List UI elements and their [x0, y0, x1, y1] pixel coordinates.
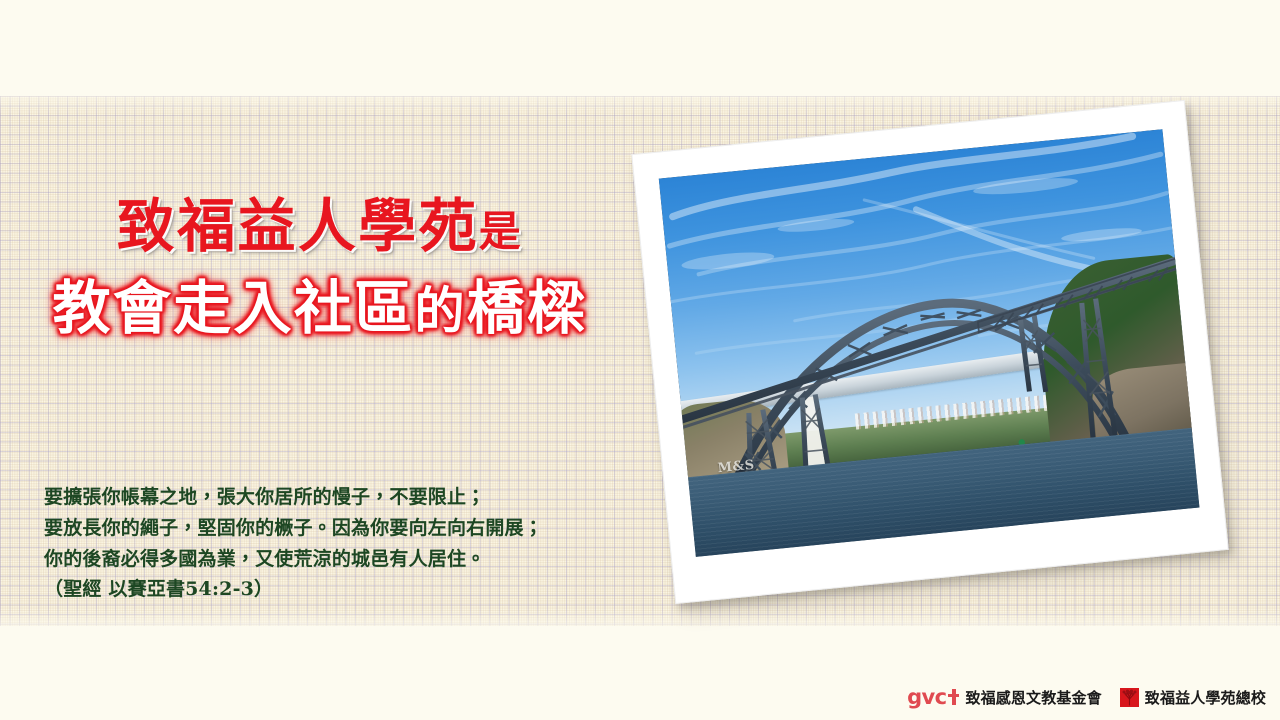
bridge-photo: M&S [659, 129, 1200, 557]
scripture-line-1: 要擴張你帳幕之地，張大你居所的慢子，不要限止； [44, 482, 543, 513]
gvc-logo: gvc [907, 687, 959, 708]
footer-org-academy[interactable]: 致福益人學苑總校 [1120, 687, 1266, 708]
scripture-block: 要擴張你帳幕之地，張大你居所的慢子，不要限止； 要放長你的繩子，堅固你的橛子。因… [44, 482, 543, 605]
headline-block: 致福益人學苑是 教會走入社區的橋樑 [0, 196, 640, 339]
gvc-wordmark: gvc [907, 687, 946, 708]
scripture-reference: （聖經 以賽亞書54:2-3） [44, 574, 543, 605]
footer-org-gvc-label: 致福感恩文教基金會 [965, 687, 1101, 708]
headline-line-1: 致福益人學苑是 [0, 196, 640, 256]
headline-line-2-part2: 的 [414, 282, 466, 340]
photo-frame: M&S [631, 100, 1228, 604]
photo-container: M&S [631, 100, 1228, 604]
scripture-line-3: 你的後裔必得多國為業，又使荒涼的城邑有人居住。 [44, 544, 543, 575]
headline-line-2-part1: 教會走入社區 [53, 274, 415, 342]
headline-line-1-tail: 是 [479, 207, 523, 256]
photo-scene: M&S [659, 129, 1200, 557]
footer-org-gvc[interactable]: gvc 致福感恩文教基金會 [907, 687, 1102, 708]
footer-org-academy-label: 致福益人學苑總校 [1145, 687, 1266, 708]
tree-glyph [1120, 688, 1139, 707]
tree-square-icon [1120, 688, 1139, 707]
headline-line-1-main: 致福益人學苑 [117, 192, 479, 260]
headline-line-2: 教會走入社區的橋樑 [0, 278, 640, 338]
headline-line-2-part3: 橋樑 [467, 274, 588, 342]
cross-icon [948, 689, 959, 705]
footer-logos: gvc 致福感恩文教基金會 [907, 682, 1266, 712]
slide-canvas: 致福益人學苑是 教會走入社區的橋樑 要擴張你帳幕之地，張大你居所的慢子，不要限止… [0, 0, 1280, 720]
scripture-line-2: 要放長你的繩子，堅固你的橛子。因為你要向左向右開展； [44, 513, 543, 544]
